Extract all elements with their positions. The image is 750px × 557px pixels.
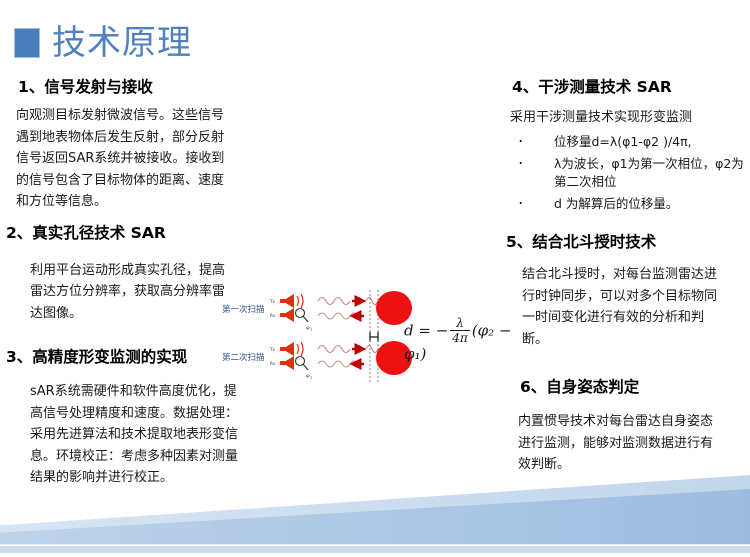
svg-text:1: 1 bbox=[310, 328, 312, 332]
title-text: 技术原理 bbox=[52, 26, 192, 60]
scan-1-group: Tx Rx φ 1 bbox=[269, 290, 412, 332]
section-3-text: sAR系统需硬件和软件高度优化，提高信号处理精度和速度。数据处理：采用先进算法和… bbox=[30, 381, 245, 488]
right-column: 4、干涉测量技术 SAR 采用干涉测量技术实现形变监测 位移量d=λ(φ1-φ2… bbox=[482, 76, 750, 478]
formula-denominator: 4π bbox=[450, 331, 470, 345]
formula-fraction: λ4π bbox=[450, 316, 470, 345]
section-5-body: 结合北斗授时，对每台监测雷达进行时钟同步，可以对多个目标物同一时间变化进行有效的… bbox=[522, 264, 727, 350]
formula-numerator: λ bbox=[450, 316, 470, 331]
distance-marker bbox=[370, 332, 378, 342]
section-4-heading: 4、干涉测量技术 SAR bbox=[512, 76, 750, 99]
section-2-body: 利用平台运动形成真实孔径，提高雷达方位分辨率，获取高分辨率雷达图像。 bbox=[30, 260, 230, 324]
scan-2-group: Tx Rx φ 2 bbox=[269, 340, 412, 382]
footer-strip-inner bbox=[0, 546, 750, 553]
section-4: 4、干涉测量技术 SAR 采用干涉测量技术实现形变监测 位移量d=λ(φ1-φ2… bbox=[482, 76, 750, 213]
svg-text:Tx: Tx bbox=[269, 347, 275, 352]
section-1: 1、信号发射与接收 向观测目标发射微波信号。这些信号遇到地表物体后发生反射，部分… bbox=[0, 76, 270, 212]
rx-antenna-icon-1 bbox=[280, 308, 308, 322]
section-6-body: 内置惯导技术对每台雷达自身姿态进行监测，能够对监测数据进行有效判断。 bbox=[518, 411, 723, 475]
slide-title: 技术原理 bbox=[14, 26, 192, 60]
section-2-text: 利用平台运动形成真实孔径，提高雷达方位分辨率，获取高分辨率雷达图像。 bbox=[30, 260, 230, 324]
tx-antenna-icon-1 bbox=[280, 294, 303, 308]
footer-strip bbox=[0, 544, 750, 557]
section-6-heading: 6、自身姿态判定 bbox=[520, 376, 750, 399]
formula-lhs: d = − bbox=[404, 321, 448, 339]
section-6-text: 内置惯导技术对每台雷达自身姿态进行监测，能够对监测数据进行有效判断。 bbox=[518, 411, 723, 475]
section-1-heading: 1、信号发射与接收 bbox=[18, 76, 270, 99]
svg-text:Tx: Tx bbox=[269, 299, 275, 304]
section-6: 6、自身姿态判定 内置惯导技术对每台雷达自身姿态进行监测，能够对监测数据进行有效… bbox=[482, 376, 750, 476]
section-1-body: 向观测目标发射微波信号。这些信号遇到地表物体后发生反射，部分反射信号返回SAR系… bbox=[16, 105, 234, 212]
svg-text:2: 2 bbox=[310, 376, 312, 380]
bullet-item: d 为解算后的位移量。 bbox=[510, 195, 750, 213]
bullet-item: λ为波长，φ1为第一次相位，φ2为第二次相位 bbox=[510, 155, 750, 191]
slide-root: 技术原理 1、信号发射与接收 向观测目标发射微波信号。这些信号遇到地表物体后发生… bbox=[0, 0, 750, 557]
svg-text:Rx: Rx bbox=[270, 313, 276, 318]
decorative-band-lower bbox=[0, 489, 750, 545]
bullet-item: 位移量d=λ(φ1-φ2 )/4π, bbox=[510, 133, 750, 151]
section-3-body: sAR系统需硬件和软件高度优化，提高信号处理精度和速度。数据处理：采用先进算法和… bbox=[30, 381, 245, 488]
interferometry-diagram: 第一次扫描 第二次扫描 Tx bbox=[222, 288, 522, 388]
svg-text:Rx: Rx bbox=[270, 361, 276, 366]
section-5: 5、结合北斗授时技术 结合北斗授时，对每台监测雷达进行时钟同步，可以对多个目标物… bbox=[482, 231, 750, 350]
displacement-formula: d = −λ4π(φ₂ − φ₁) bbox=[404, 316, 522, 363]
section-4-intro: 采用干涉测量技术实现形变监测 bbox=[510, 107, 750, 128]
rx-antenna-icon-2 bbox=[280, 356, 308, 370]
section-4-body: 采用干涉测量技术实现形变监测 位移量d=λ(φ1-φ2 )/4π, λ为波长，φ… bbox=[510, 107, 750, 213]
title-square-icon bbox=[14, 28, 40, 58]
section-4-bullet-list: 位移量d=λ(φ1-φ2 )/4π, λ为波长，φ1为第一次相位，φ2为第二次相… bbox=[510, 133, 750, 214]
left-column: 1、信号发射与接收 向观测目标发射微波信号。这些信号遇到地表物体后发生反射，部分… bbox=[0, 76, 270, 490]
section-2-heading: 2、真实孔径技术 SAR bbox=[6, 222, 270, 245]
section-1-text: 向观测目标发射微波信号。这些信号遇到地表物体后发生反射，部分反射信号返回SAR系… bbox=[16, 105, 234, 212]
tx-antenna-icon-2 bbox=[280, 342, 303, 356]
section-5-heading: 5、结合北斗授时技术 bbox=[506, 231, 750, 254]
section-5-text: 结合北斗授时，对每台监测雷达进行时钟同步，可以对多个目标物同一时间变化进行有效的… bbox=[522, 264, 727, 350]
